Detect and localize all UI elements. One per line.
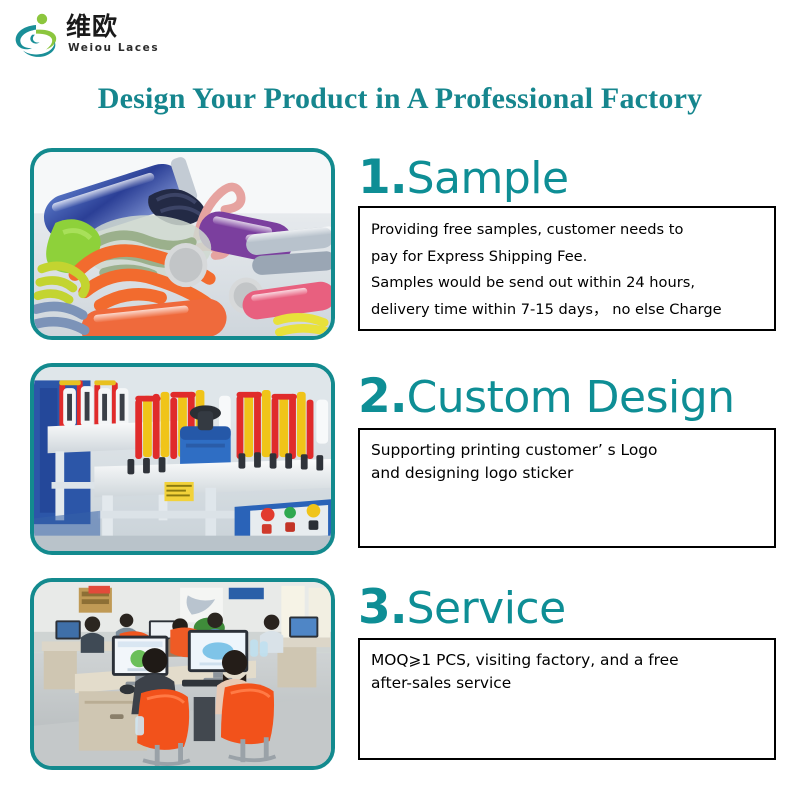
service-line-2: after-sales service (371, 672, 764, 695)
section-1-title: Sample (407, 153, 569, 204)
colorful-shoelace-coils-in-tubes-photo (30, 148, 335, 340)
brand-logo: 维欧 Weiou Laces (12, 10, 172, 62)
service-line-1: MOQ⩾1 PCS, visiting factory, and a free (371, 649, 764, 672)
section-2-title: Custom Design (407, 372, 735, 423)
section-service: 3.Service MOQ⩾1 PCS, visiting factory, a… (0, 578, 800, 778)
brand-name-en: Weiou Laces (68, 43, 159, 54)
section-3-number: 3. (358, 580, 407, 635)
section-custom-design: 2.Custom Design Supporting printing cust… (0, 363, 800, 563)
section-2-heading: 2.Custom Design (358, 373, 735, 420)
sample-description-box: Providing free samples, customer needs t… (358, 206, 776, 331)
section-sample: 1.Sample Providing free samples, custome… (0, 148, 800, 348)
sample-line-3: Samples would be send out within 24 hour… (371, 270, 764, 297)
custom-design-line-2: and designing logo sticker (371, 462, 764, 485)
section-1-heading: 1.Sample (358, 154, 569, 201)
section-2-number: 2. (358, 369, 407, 424)
brand-name-cn: 维欧 (66, 14, 118, 39)
page-title: Design Your Product in A Professional Fa… (0, 82, 800, 116)
section-3-title: Service (407, 583, 566, 634)
weiou-swoosh-logo-icon (12, 10, 64, 60)
sample-line-4: delivery time within 7-15 days， no else … (371, 297, 764, 324)
service-description-box: MOQ⩾1 PCS, visiting factory, and a free … (358, 638, 776, 760)
sample-line-1: Providing free samples, customer needs t… (371, 217, 764, 244)
office-staff-at-computers-photo (30, 578, 335, 770)
sample-line-2: pay for Express Shipping Fee. (371, 244, 764, 271)
section-3-heading: 3.Service (358, 584, 566, 631)
custom-design-description-box: Supporting printing customer’ s Logo and… (358, 428, 776, 548)
promo-page: 维欧 Weiou Laces Design Your Product in A … (0, 0, 800, 800)
section-1-number: 1. (358, 150, 407, 205)
braiding-machine-factory-photo (30, 363, 335, 555)
custom-design-line-1: Supporting printing customer’ s Logo (371, 439, 764, 462)
